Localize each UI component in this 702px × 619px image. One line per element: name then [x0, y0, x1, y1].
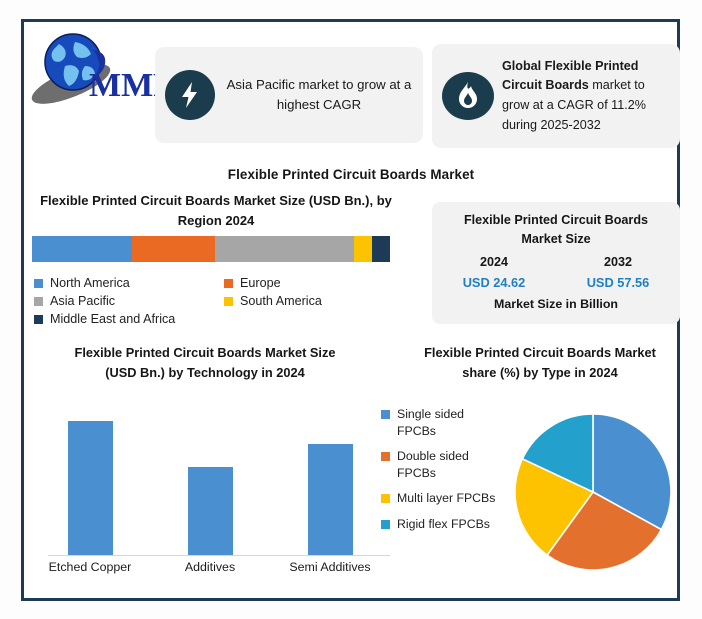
legend-item-north-america: North America: [34, 276, 224, 290]
flame-icon: [442, 72, 494, 120]
legend-swatch-north-america: [34, 279, 43, 288]
legend-row: Middle East and Africa: [34, 312, 414, 329]
region-stacked-bar: [32, 236, 390, 262]
bar-axis-label: Additives: [150, 560, 270, 574]
pie-legend-swatch: [381, 452, 390, 461]
market-size-title-line2: Market Size: [432, 230, 680, 249]
callout-global-cagr: Global Flexible Printed Circuit Boards m…: [432, 44, 680, 148]
technology-bar-chart: [30, 408, 390, 556]
market-size-value-start: USD 24.62: [432, 275, 556, 290]
type-chart-title-line2: share (%) by Type in 2024: [395, 363, 685, 383]
type-legend: Single sided FPCBsDouble sided FPCBsMult…: [381, 406, 501, 542]
legend-item-asia-pacific: Asia Pacific: [34, 294, 224, 308]
technology-bar-columns: [30, 408, 390, 555]
technology-axis-line: [48, 555, 390, 556]
pie-legend-swatch: [381, 494, 390, 503]
pie-legend-swatch: [381, 410, 390, 419]
type-chart-title: Flexible Printed Circuit Boards Market s…: [395, 343, 685, 384]
legend-label-europe: Europe: [240, 276, 281, 290]
legend-row: Asia Pacific South America: [34, 294, 414, 311]
pie-legend-item: Rigid flex FPCBs: [381, 516, 501, 533]
bar-axis-label: Etched Copper: [30, 560, 150, 574]
legend-swatch-middle-east-africa: [34, 315, 43, 324]
region-segment: [215, 236, 355, 262]
pie-legend-label: Single sided FPCBs: [397, 406, 501, 439]
callout-global-cagr-text: Global Flexible Printed Circuit Boards m…: [502, 57, 670, 135]
pie-legend-label: Double sided FPCBs: [397, 448, 501, 481]
market-size-title-line1: Flexible Printed Circuit Boards: [432, 211, 680, 230]
bar: [68, 421, 113, 555]
region-legend: North America Europe Asia Pacific South …: [34, 276, 414, 330]
bar-column: [30, 408, 150, 555]
pie-legend-item: Multi layer FPCBs: [381, 490, 501, 507]
callout-asia-pacific: Asia Pacific market to grow at a highest…: [155, 47, 423, 143]
legend-swatch-south-america: [224, 297, 233, 306]
technology-chart-title-line2: (USD Bn.) by Technology in 2024: [20, 363, 390, 383]
region-segment: [354, 236, 372, 262]
region-segment: [132, 236, 214, 262]
legend-item-south-america: South America: [224, 294, 414, 308]
logo-brand-text: MMR: [89, 67, 157, 104]
page-title: Flexible Printed Circuit Boards Market: [0, 167, 702, 182]
type-pie-chart: [515, 414, 671, 570]
type-chart-title-line1: Flexible Printed Circuit Boards Market: [395, 343, 685, 363]
pie-legend-swatch: [381, 520, 390, 529]
region-chart-title: Flexible Printed Circuit Boards Market S…: [32, 191, 400, 231]
pie-legend-label: Multi layer FPCBs: [397, 490, 495, 507]
market-size-values: USD 24.62 USD 57.56: [432, 275, 680, 290]
pie-legend-label: Rigid flex FPCBs: [397, 516, 490, 533]
legend-label-south-america: South America: [240, 294, 322, 308]
market-size-footer: Market Size in Billion: [432, 297, 680, 311]
bar-column: [270, 408, 390, 555]
market-size-year-start: 2024: [432, 255, 556, 269]
legend-label-asia-pacific: Asia Pacific: [50, 294, 115, 308]
callout-asia-pacific-text: Asia Pacific market to grow at a highest…: [223, 75, 415, 115]
region-segment: [372, 236, 390, 262]
mmr-logo: MMR: [27, 28, 157, 106]
legend-swatch-europe: [224, 279, 233, 288]
lightning-bolt-icon: [165, 70, 215, 120]
technology-chart-title: Flexible Printed Circuit Boards Market S…: [20, 343, 390, 384]
market-size-years: 2024 2032: [432, 255, 680, 269]
market-size-value-end: USD 57.56: [556, 275, 680, 290]
legend-swatch-asia-pacific: [34, 297, 43, 306]
pie-legend-item: Single sided FPCBs: [381, 406, 501, 439]
legend-label-north-america: North America: [50, 276, 130, 290]
bar-axis-label: Semi Additives: [270, 560, 390, 574]
pie-legend-item: Double sided FPCBs: [381, 448, 501, 481]
region-segment: [32, 236, 132, 262]
bar-column: [150, 408, 270, 555]
market-size-year-end: 2032: [556, 255, 680, 269]
technology-axis-labels: Etched CopperAdditivesSemi Additives: [30, 560, 390, 574]
technology-chart-title-line1: Flexible Printed Circuit Boards Market S…: [20, 343, 390, 363]
legend-item-middle-east-africa: Middle East and Africa: [34, 312, 224, 326]
infographic-page: MMR Asia Pacific market to grow at a hig…: [0, 0, 702, 619]
legend-item-europe: Europe: [224, 276, 414, 290]
legend-row: North America Europe: [34, 276, 414, 293]
bar: [308, 444, 353, 555]
market-size-box: Flexible Printed Circuit Boards Market S…: [432, 202, 680, 324]
legend-label-middle-east-africa: Middle East and Africa: [50, 312, 175, 326]
bar: [188, 467, 233, 555]
